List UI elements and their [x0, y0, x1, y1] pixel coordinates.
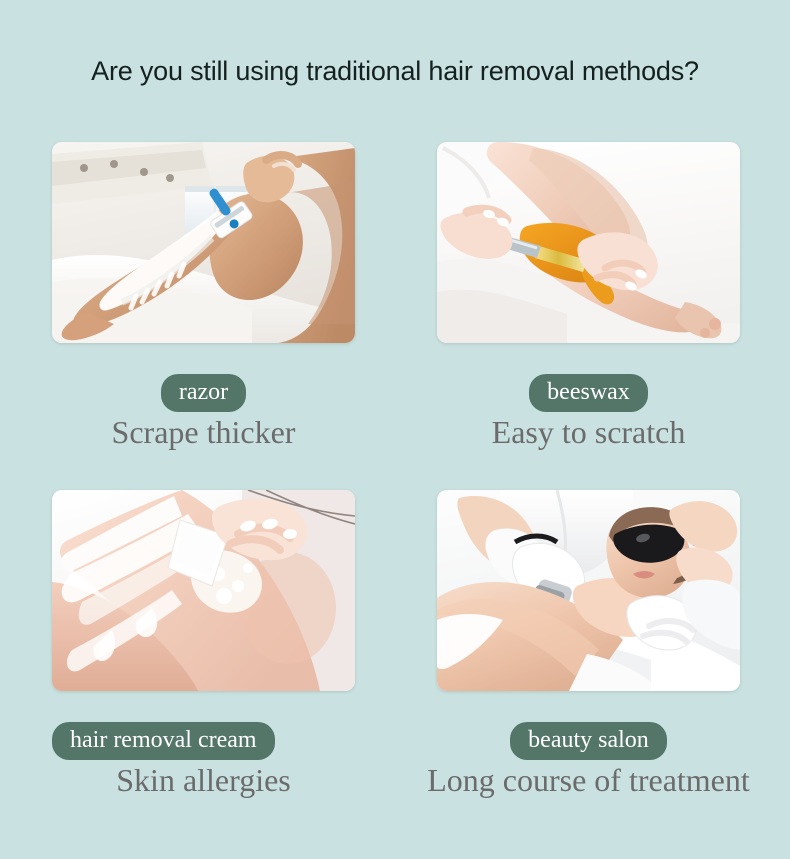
label-badge-razor: razor [161, 374, 246, 412]
pill-wrap-beeswax: beeswax [437, 374, 740, 412]
woman-shaving-leg-with-razor-photo [52, 142, 355, 343]
caption-beauty-salon: Long course of treatment [397, 762, 780, 799]
pill-wrap-hair-removal-cream: hair removal cream [52, 722, 355, 760]
label-badge-beeswax: beeswax [529, 374, 648, 412]
label-badge-beauty-salon: beauty salon [510, 722, 667, 760]
methods-grid: razor Scrape thicker [0, 142, 790, 838]
method-card-razor: razor Scrape thicker [52, 142, 355, 490]
hair-removal-cream-leg-photo [52, 490, 355, 691]
method-card-beeswax: beeswax Easy to scratch [437, 142, 740, 490]
caption-beeswax: Easy to scratch [411, 414, 766, 451]
methods-row-bottom: hair removal cream Skin allergies [0, 490, 790, 838]
label-badge-hair-removal-cream: hair removal cream [52, 722, 275, 760]
laser-hair-removal-salon-photo [437, 490, 740, 691]
methods-row-top: razor Scrape thicker [0, 142, 790, 490]
pill-wrap-beauty-salon: beauty salon [437, 722, 740, 760]
pill-wrap-razor: razor [52, 374, 355, 412]
caption-hair-removal-cream: Skin allergies [26, 762, 381, 799]
caption-razor: Scrape thicker [26, 414, 381, 451]
promo-banner: Are you still using traditional hair rem… [0, 0, 790, 859]
method-card-beauty-salon: beauty salon Long course of treatment [437, 490, 740, 838]
page-title: Are you still using traditional hair rem… [0, 56, 790, 87]
beeswax-waxing-leg-photo [437, 142, 740, 343]
method-card-hair-removal-cream: hair removal cream Skin allergies [52, 490, 355, 838]
